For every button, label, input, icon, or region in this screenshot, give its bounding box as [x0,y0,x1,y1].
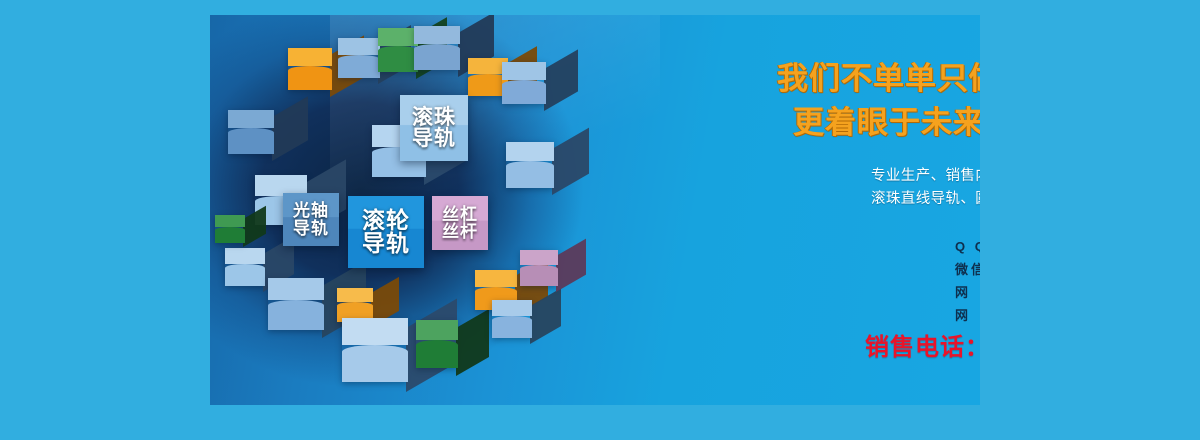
cube-front-lower [228,128,274,154]
cube-front-lower [506,161,554,188]
cube-front-upper [416,320,458,340]
contact-row: 微信号：zxdgzc（直线导轨轴承） [955,258,980,281]
product-label-rolling-ball-guide: 滚珠导轨 [400,95,468,161]
product-label-line-1: 光轴 [293,202,329,219]
cube-front-upper [337,288,373,302]
decorative-cube [492,300,532,338]
cube-side-face [456,309,489,376]
cube-front-lower [502,80,546,104]
contact-row: 网 址：Www.Zxdgzc.Com [955,281,980,304]
product-label-lead-screw: 丝杠丝杆 [432,196,488,250]
cube-front-lower [338,55,380,78]
cube-front-lower [225,264,265,286]
cube-front-upper [502,62,546,80]
product-label-line-2: 导轨 [412,128,456,149]
decorative-cube [228,110,274,154]
headline-line-2: 更着眼于未来与您长期合作 [770,101,980,145]
cube-front-lower [268,300,324,330]
contact-row: Q Q：80286553 [955,235,980,258]
cube-front-upper [338,38,380,55]
cube-front-upper [215,215,245,227]
sales-phone: 销售电话：18357860469 [865,327,980,362]
contact-label: 微信号： [955,258,980,281]
cube-front-lower [416,340,458,368]
decorative-cube [378,28,418,72]
decorative-cube [338,38,380,78]
headline-line-1: 我们不单单只做您目前的订单 [770,57,980,101]
cube-front-lower [378,46,418,72]
decorative-cube [215,215,245,243]
cube-front-upper [268,278,324,300]
banner-advertisement: 滚珠导轨光轴导轨滚轮导轨丝杠丝杆 我们不单单只做您目前的订单 更着眼于未来与您长… [0,0,1200,440]
headline: 我们不单单只做您目前的订单 更着眼于未来与您长期合作 [770,57,980,145]
cube-front-upper [475,270,517,287]
banner-panel: 滚珠导轨光轴导轨滚轮导轨丝杠丝杆 我们不单单只做您目前的订单 更着眼于未来与您长… [210,15,980,405]
product-label-line-1: 滚珠 [412,107,456,128]
cube-front-upper [492,300,532,316]
cube-front-lower [520,265,558,286]
cube-side-face [272,96,308,161]
cube-front-lower [492,316,532,338]
cube-side-face [556,239,586,292]
cube-front-lower [414,44,460,70]
cube-front-upper [225,248,265,264]
cube-front-upper [228,110,274,128]
product-label-line-2: 导轨 [293,220,329,237]
cube-front-lower [288,66,332,90]
sales-phone-label: 销售电话： [865,334,980,361]
cube-front-upper [414,26,460,44]
product-label-optical-axis-guide: 光轴导轨 [283,193,339,246]
description-line-3: 线轴承等。 [840,212,980,235]
product-label-line-1: 滚轮 [362,209,410,232]
cube-side-face [243,206,266,247]
contact-info-block: Q Q：80286553微信号：zxdgzc（直线导轨轴承）网 址：Www.Zx… [955,235,980,328]
contact-label: 网 址： [955,281,980,304]
decorative-cube [416,320,458,368]
decorative-cube [337,288,373,322]
description-line-2: 滚珠直线导轨、圆柱光轴导轨、丝杠丝杆、直 [840,188,980,211]
cube-front-lower [342,345,408,382]
decorative-cube [414,26,460,70]
decorative-cube [502,62,546,104]
product-description: 专业生产、销售内外置双轴心滚轮直线导轨、 滚珠直线导轨、圆柱光轴导轨、丝杠丝杆、… [840,165,980,235]
description-line-1: 专业生产、销售内外置双轴心滚轮直线导轨、 [840,165,980,188]
cube-front-upper [288,48,332,66]
cube-side-face [552,128,589,195]
decorative-cube [520,250,558,286]
product-label-line-2: 导轨 [362,232,410,255]
contact-row: 网 址：Www.Cnzxdg.Com [955,304,980,327]
decorative-cube [268,278,324,330]
contact-label: Q Q： [955,235,980,258]
decorative-cube [506,142,554,188]
product-label-line-1: 丝杠 [442,206,478,223]
decorative-cube [225,248,265,286]
cube-front-lower [215,227,245,243]
contact-label: 网 址： [955,304,980,327]
cube-front-upper [342,318,408,345]
cube-front-upper [506,142,554,161]
decorative-cube [288,48,332,90]
product-label-roller-guide: 滚轮导轨 [348,196,424,268]
product-label-line-2: 丝杆 [442,223,478,240]
cube-side-face [544,49,578,111]
decorative-cube [342,318,408,382]
cube-front-upper [378,28,418,46]
cube-front-upper [520,250,558,265]
